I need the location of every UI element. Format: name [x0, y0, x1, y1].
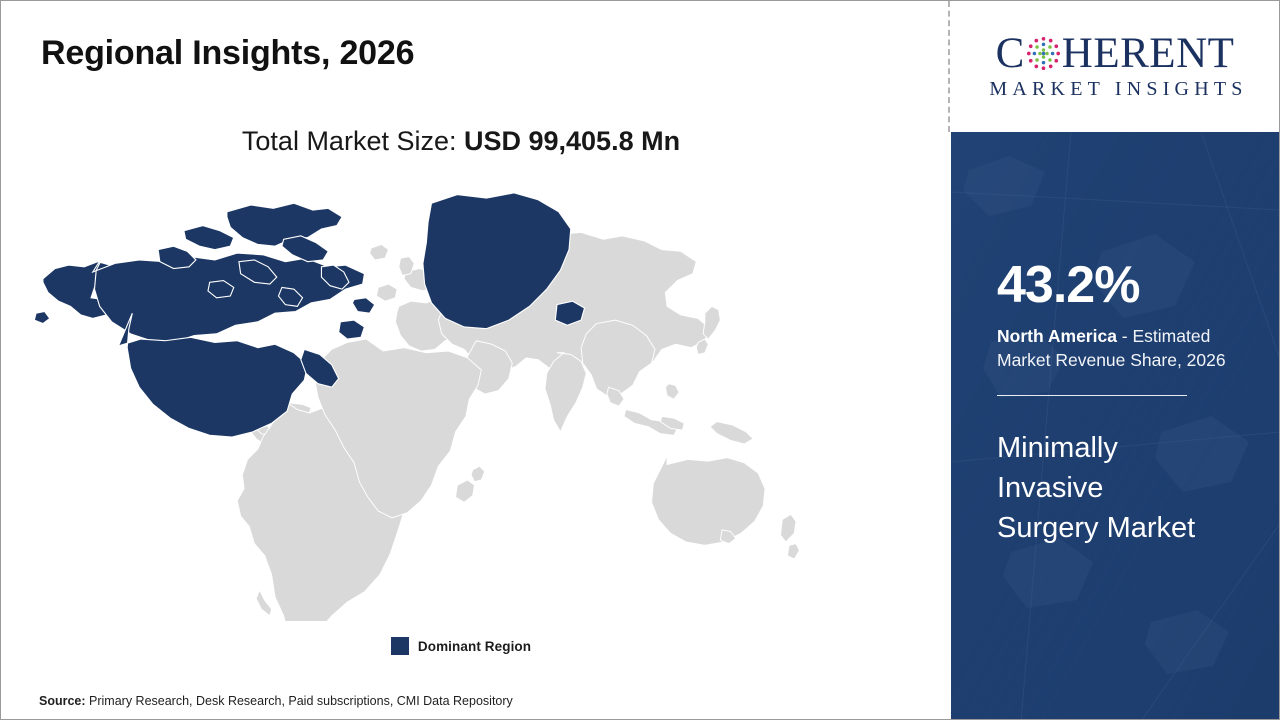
total-market-size-value: USD 99,405.8 Mn — [464, 126, 680, 156]
dominant-region-name: North America — [997, 326, 1117, 346]
revenue-share-percentage: 43.2% — [997, 259, 1251, 311]
source-note: Source: Primary Research, Desk Research,… — [39, 694, 513, 708]
source-label: Source: — [39, 694, 86, 708]
world-map — [29, 186, 889, 621]
vertical-dashed-divider — [948, 1, 950, 132]
map-legend: Dominant Region — [41, 637, 881, 655]
source-text: Primary Research, Desk Research, Paid su… — [86, 694, 513, 708]
world-map-svg — [29, 186, 889, 621]
dotted-globe-icon — [1026, 36, 1061, 71]
panel-divider-rule — [997, 395, 1187, 396]
side-panel-content: 43.2% North America - Estimated Market R… — [951, 132, 1280, 548]
brand-logo: C — [951, 1, 1280, 132]
legend-swatch-dominant-region — [391, 637, 409, 655]
logo-subtitle: MARKET INSIGHTS — [989, 78, 1247, 101]
page-title: Regional Insights, 2026 — [41, 34, 414, 73]
legend-label-dominant-region: Dominant Region — [418, 639, 531, 654]
insight-side-panel: 43.2% North America - Estimated Market R… — [951, 132, 1280, 720]
logo-letter-c: C — [996, 32, 1025, 75]
logo-wordmark: C — [996, 32, 1235, 75]
market-name-line-1: Minimally — [997, 428, 1251, 468]
market-name-line-3: Surgery Market — [997, 508, 1251, 548]
market-name-line-2: Invasive — [997, 468, 1251, 508]
market-name: Minimally Invasive Surgery Market — [997, 428, 1251, 548]
left-content-pane: Regional Insights, 2026 Total Market Siz… — [1, 1, 948, 719]
map-region-north-america — [34, 193, 584, 437]
regional-insights-slide: Regional Insights, 2026 Total Market Siz… — [0, 0, 1280, 720]
revenue-share-caption: North America - Estimated Market Revenue… — [997, 325, 1251, 373]
dotted-globe-svg — [1026, 36, 1061, 71]
logo-letters-herent: HERENT — [1062, 32, 1235, 75]
total-market-size: Total Market Size: USD 99,405.8 Mn — [41, 126, 881, 157]
total-market-size-label: Total Market Size: — [242, 126, 464, 156]
